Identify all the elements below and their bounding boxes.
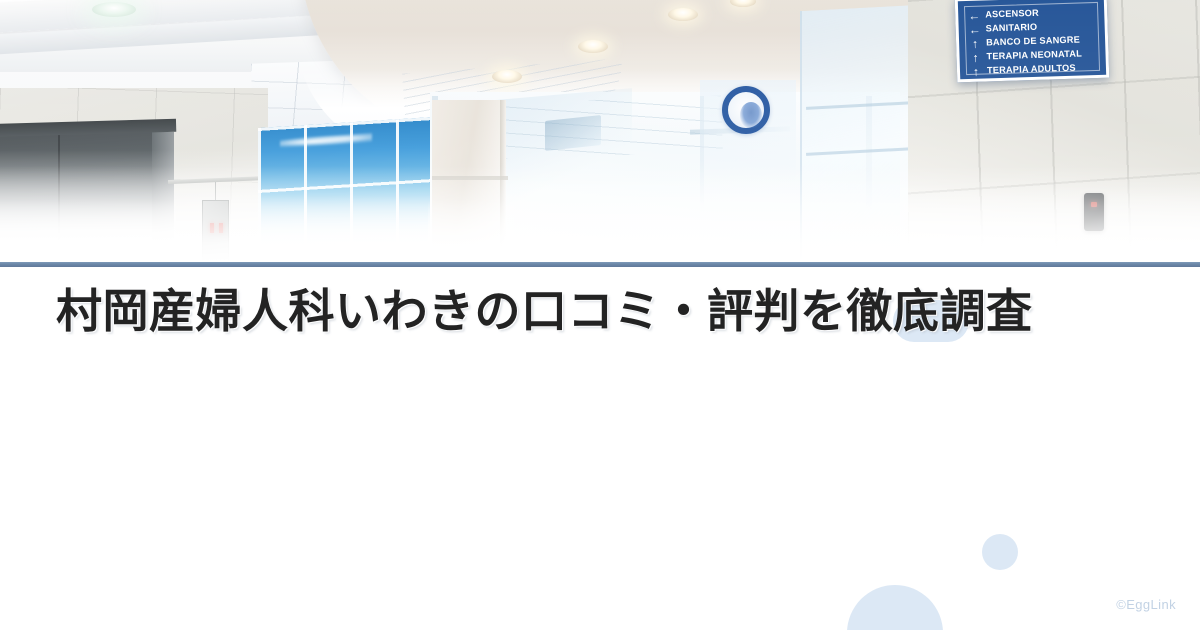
sign-row-label: ASCENSOR (985, 9, 1039, 20)
ceiling-downlight-icon (578, 40, 608, 53)
pillar-band (432, 176, 508, 180)
sign-row-label: TERAPIA ADULTOS (987, 64, 1076, 76)
right-glass-partition (800, 5, 918, 262)
call-indicator-led (210, 223, 214, 233)
call-indicator-led (219, 223, 223, 233)
watermark: ©EggLink (1116, 597, 1176, 612)
sign-row-label: SANITARIO (986, 23, 1038, 34)
elevator-call-panel (202, 200, 229, 262)
decorative-circle (982, 534, 1018, 570)
hospital-lobby-scene: ← ASCENSOR ← SANITARIO ↑ BANCO DE SANGRE… (0, 0, 1200, 262)
wall-mounted-screen (545, 115, 601, 151)
og-image-card: ← ASCENSOR ← SANITARIO ↑ BANCO DE SANGRE… (0, 0, 1200, 630)
arrow-up-icon: ↑ (970, 66, 982, 78)
ceiling-downlight-icon (668, 8, 698, 21)
blue-circular-emblem-icon (722, 86, 770, 134)
sign-row-label: TERAPIA NEONATAL (986, 50, 1082, 62)
hospital-directional-sign: ← ASCENSOR ← SANITARIO ↑ BANCO DE SANGRE… (955, 0, 1110, 82)
arrow-left-icon: ← (969, 24, 981, 36)
panel-conduit (215, 182, 216, 202)
sign-row: ↑ TERAPIA ADULTOS (970, 61, 1096, 79)
ceiling-downlight-icon (492, 70, 522, 83)
right-wall-fade (908, 186, 1200, 262)
arrow-left-icon: ← (968, 10, 980, 22)
sign-inner-border: ← ASCENSOR ← SANITARIO ↑ BANCO DE SANGRE… (964, 2, 1100, 75)
ceiling-downlight-icon (92, 2, 136, 17)
page-title: 村岡産婦人科いわきの口コミ・評判を徹底調査 (56, 286, 1146, 338)
arrow-up-icon: ↑ (969, 38, 981, 50)
hero-photo: ← ASCENSOR ← SANITARIO ↑ BANCO DE SANGRE… (0, 0, 1200, 262)
pillar-fade (428, 200, 514, 262)
card-reader-led (1091, 202, 1097, 207)
sign-row-label: BANCO DE SANGRE (986, 36, 1080, 48)
glass-wall-fade (258, 196, 448, 262)
decorative-circle (847, 585, 943, 630)
emblem-inner-mark (740, 102, 762, 128)
arrow-up-icon: ↑ (969, 52, 981, 64)
card-reader-device (1084, 193, 1104, 231)
